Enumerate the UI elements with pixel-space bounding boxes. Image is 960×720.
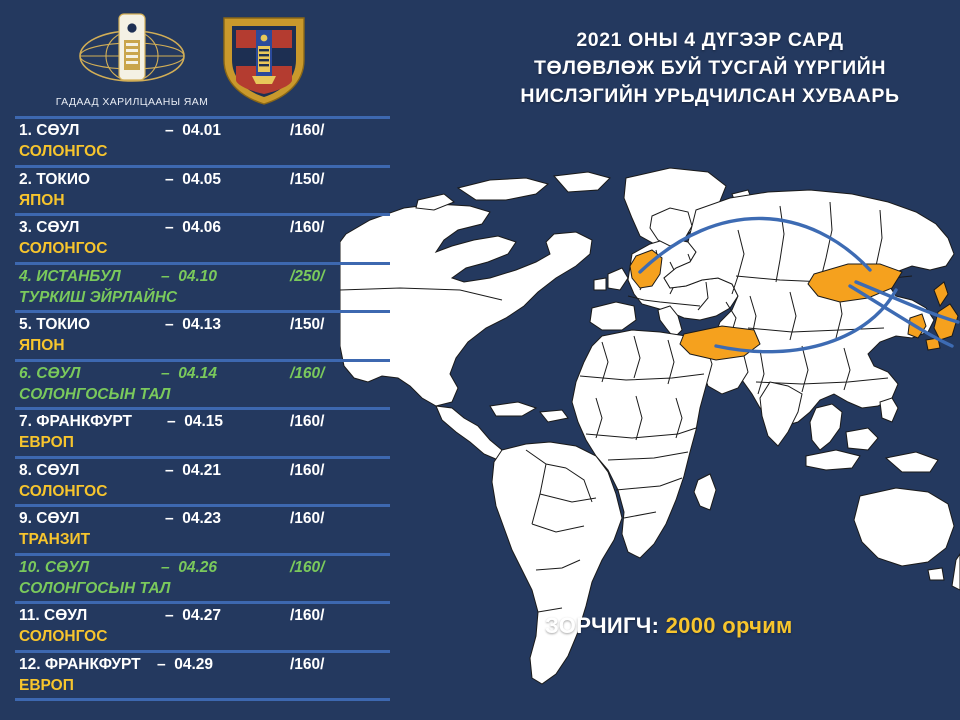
- flight-row-primary: 7. ФРАНКФУРТ – 04.15 /160/: [15, 410, 390, 433]
- flight-row: 2. ТОКИО – 04.05 /150/ ЯПОН: [15, 165, 390, 214]
- passenger-suffix: орчим: [722, 613, 792, 638]
- japan-highlight: [934, 282, 948, 306]
- flight-date: – 04.21: [165, 461, 221, 480]
- flight-note: СОЛОНГОС: [19, 239, 107, 258]
- flight-capacity: /160/: [290, 218, 324, 237]
- flight-capacity: /160/: [290, 558, 324, 577]
- caribbean-islands-b: [540, 410, 568, 422]
- map-landmasses: [340, 168, 960, 684]
- flight-capacity: /160/: [290, 509, 324, 528]
- flight-capacity: /160/: [290, 121, 324, 140]
- flight-date: – 04.27: [165, 606, 221, 625]
- flight-capacity: /150/: [290, 315, 324, 334]
- flight-note: СОЛОНГОС: [19, 142, 107, 161]
- flight-date: – 04.14: [161, 364, 217, 383]
- flight-date: – 04.13: [165, 315, 221, 334]
- ireland-islet: [594, 278, 606, 290]
- flight-capacity: /250/: [290, 267, 324, 286]
- flight-note: СОЛОНГОСЫН ТАЛ: [19, 579, 170, 598]
- flight-row: 5. ТОКИО – 04.13 /150/ ЯПОН: [15, 310, 390, 359]
- flight-row-primary: 3. СӨУЛ – 04.06 /160/: [15, 216, 390, 239]
- flight-destination: 12. ФРАНКФУРТ: [19, 655, 141, 674]
- flight-destination: 9. СӨУЛ: [19, 509, 79, 528]
- flight-note: СОЛОНГОСЫН ТАЛ: [19, 385, 170, 404]
- flight-row-primary: 8. СӨУЛ – 04.21 /160/: [15, 459, 390, 482]
- british-isles: [608, 268, 628, 290]
- flight-row: 11. СӨУЛ – 04.27 /160/ СОЛОНГОС: [15, 601, 390, 650]
- flight-row: 8. СӨУЛ – 04.21 /160/ СОЛОНГОС: [15, 456, 390, 505]
- flight-capacity: /160/: [290, 364, 324, 383]
- flight-note: ЯПОН: [19, 191, 65, 210]
- title-line-3: НИСЛЭГИЙН УРЬДЧИЛСАН ХУВААРЬ: [470, 82, 950, 110]
- flight-note: ЯПОН: [19, 336, 65, 355]
- arctic-islands: [458, 178, 548, 200]
- flight-row: 4. ИСТАНБУЛ – 04.10 /250/ ТУРКИШ ЭЙРЛАЙН…: [15, 262, 390, 311]
- flight-destination: 4. ИСТАНБУЛ: [19, 267, 121, 286]
- soyombo-pillar-icon: [119, 14, 145, 80]
- flight-row-primary: 11. СӨУЛ – 04.27 /160/: [15, 604, 390, 627]
- flight-destination: 2. ТОКИО: [19, 170, 90, 189]
- flight-row: 3. СӨУЛ – 04.06 /160/ СОЛОНГОС: [15, 213, 390, 262]
- flight-date: – 04.05: [165, 170, 221, 189]
- flight-capacity: /160/: [290, 412, 324, 431]
- tasmania-island: [928, 568, 944, 580]
- flight-destination: 5. ТОКИО: [19, 315, 90, 334]
- flight-date: – 04.29: [157, 655, 213, 674]
- flight-row-primary: 10. СӨУЛ – 04.26 /160/: [15, 556, 390, 579]
- central-america-landmass: [436, 406, 502, 460]
- flight-date: – 04.01: [165, 121, 221, 140]
- page-title: 2021 ОНЫ 4 ДҮГЭЭР САРД ТӨЛӨВЛӨЖ БУЙ ТУСГ…: [470, 26, 950, 110]
- new-guinea-island: [886, 452, 938, 472]
- passenger-summary: ЗОРЧИГЧ: 2000 орчим: [545, 613, 793, 639]
- flight-capacity: /160/: [290, 606, 324, 625]
- shield-icon: [224, 18, 304, 104]
- flight-note: ЕВРОП: [19, 433, 74, 452]
- title-line-2: ТӨЛӨВЛӨЖ БУЙ ТУСГАЙ ҮҮРГИЙН: [470, 54, 950, 82]
- arctic-island-b: [554, 172, 610, 192]
- flight-destination: 8. СӨУЛ: [19, 461, 79, 480]
- mfa-globe-emblem: ГАДААД ХАРИЛЦААНЫ ЯАМ: [52, 6, 212, 110]
- header-logo-bar: ГАДААД ХАРИЛЦААНЫ ЯАМ: [0, 0, 400, 112]
- iberia-landmass: [590, 302, 636, 330]
- flight-row-primary: 1. СӨУЛ – 04.01 /160/: [15, 119, 390, 142]
- flight-capacity: /150/: [290, 170, 324, 189]
- passenger-count: 2000: [666, 613, 716, 638]
- australia-landmass: [854, 488, 954, 566]
- title-line-1: 2021 ОНЫ 4 ДҮГЭЭР САРД: [470, 26, 950, 54]
- flight-row: 7. ФРАНКФУРТ – 04.15 /160/ ЕВРОП: [15, 407, 390, 456]
- flight-row: 10. СӨУЛ – 04.26 /160/ СОЛОНГОСЫН ТАЛ: [15, 553, 390, 602]
- flight-note: ТУРКИШ ЭЙРЛАЙНС: [19, 288, 177, 307]
- government-shield-emblem: [212, 8, 316, 108]
- flight-row-primary: 6. СӨУЛ – 04.14 /160/: [15, 362, 390, 385]
- flight-date: – 04.10: [161, 267, 217, 286]
- philippines-islands: [880, 398, 898, 422]
- flight-destination: 11. СӨУЛ: [19, 606, 87, 625]
- flight-destination: 1. СӨУЛ: [19, 121, 79, 140]
- new-zealand-islands: [952, 554, 960, 590]
- mfa-emblem-caption: ГАДААД ХАРИЛЦААНЫ ЯАМ: [52, 96, 212, 108]
- flight-note: ТРАНЗИТ: [19, 530, 90, 549]
- south-america-landmass: [492, 442, 622, 684]
- flight-note: СОЛОНГОС: [19, 627, 107, 646]
- southeast-asia-landmass: [810, 404, 842, 450]
- india-landmass: [760, 382, 802, 446]
- flight-row-primary: 4. ИСТАНБУЛ – 04.10 /250/: [15, 265, 390, 288]
- flight-date: – 04.06: [165, 218, 221, 237]
- flight-schedule-list: 1. СӨУЛ – 04.01 /160/ СОЛОНГОС 2. ТОКИО …: [15, 116, 390, 701]
- flight-date: – 04.26: [161, 558, 217, 577]
- flight-destination: 7. ФРАНКФУРТ: [19, 412, 132, 431]
- passenger-label: ЗОРЧИГЧ:: [545, 613, 659, 638]
- flight-destination: 3. СӨУЛ: [19, 218, 79, 237]
- flight-row-primary: 5. ТОКИО – 04.13 /150/: [15, 313, 390, 336]
- flight-destination: 10. СӨУЛ: [19, 558, 89, 577]
- flight-row-primary: 12. ФРАНКФУРТ – 04.29 /160/: [15, 653, 390, 676]
- flight-destination: 6. СӨУЛ: [19, 364, 80, 383]
- flight-date: – 04.15: [167, 412, 223, 431]
- flight-row-primary: 2. ТОКИО – 04.05 /150/: [15, 168, 390, 191]
- flight-note: ЕВРОП: [19, 676, 74, 695]
- flight-date: – 04.23: [165, 509, 221, 528]
- flight-capacity: /160/: [290, 655, 324, 674]
- flight-row: 9. СӨУЛ – 04.23 /160/ ТРАНЗИТ: [15, 504, 390, 553]
- madagascar-island: [694, 474, 716, 510]
- borneo-island: [846, 428, 878, 450]
- flight-capacity: /160/: [290, 461, 324, 480]
- flight-row: 1. СӨУЛ – 04.01 /160/ СОЛОНГОС: [15, 116, 390, 165]
- flight-row: 6. СӨУЛ – 04.14 /160/ СОЛОНГОСЫН ТАЛ: [15, 359, 390, 408]
- flight-row: 12. ФРАНКФУРТ – 04.29 /160/ ЕВРОП: [15, 650, 390, 702]
- flight-row-primary: 9. СӨУЛ – 04.23 /160/: [15, 507, 390, 530]
- caribbean-islands: [490, 402, 536, 416]
- flight-note: СОЛОНГОС: [19, 482, 107, 501]
- infographic-canvas: ГАДААД ХАРИЛЦААНЫ ЯАМ: [0, 0, 960, 720]
- indonesia-islands: [806, 450, 860, 470]
